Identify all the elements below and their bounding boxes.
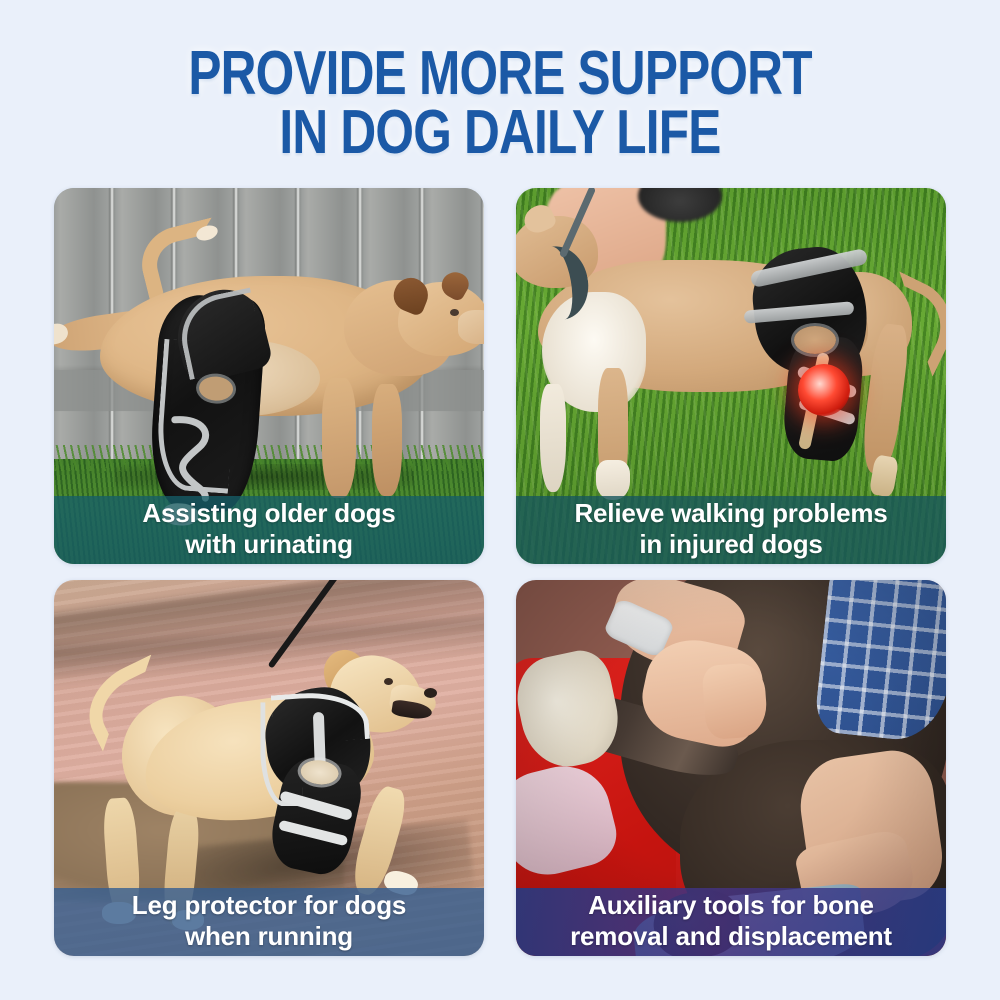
panel-assisting-older-dogs[interactable]: Assisting older dogs with urinating xyxy=(54,188,484,564)
caption-line-2: removal and displacement xyxy=(570,921,892,951)
panel-relieve-walking-problems[interactable]: Relieve walking problems in injured dogs xyxy=(516,188,946,564)
page-title-line-1: PROVIDE MORE SUPPORT xyxy=(100,44,900,103)
panel-caption: Relieve walking problems in injured dogs xyxy=(516,496,946,564)
dog-shoulder-brace-product xyxy=(245,682,387,874)
panel-caption: Assisting older dogs with urinating xyxy=(54,496,484,564)
feature-panel-grid: Assisting older dogs with urinating xyxy=(54,188,946,956)
brace-kneecap-window xyxy=(794,326,836,354)
caption-line-1: Leg protector for dogs xyxy=(132,890,406,920)
caption-line-1: Auxiliary tools for bone xyxy=(588,890,874,920)
dog-leg-brace-product xyxy=(147,293,268,515)
panel-leg-protector-running[interactable]: Leg protector for dogs when running xyxy=(54,580,484,956)
brace-trim-squiggle xyxy=(161,413,221,503)
caption-line-2: in injured dogs xyxy=(639,529,822,559)
caption-line-2: with urinating xyxy=(185,529,353,559)
caption-line-1: Relieve walking problems xyxy=(574,498,887,528)
caption-line-1: Assisting older dogs xyxy=(142,498,395,528)
panel-auxiliary-tools-bone[interactable]: Auxiliary tools for bone removal and dis… xyxy=(516,580,946,956)
page-title-line-2: IN DOG DAILY LIFE xyxy=(100,103,900,162)
panel-caption: Auxiliary tools for bone removal and dis… xyxy=(516,888,946,956)
panel-caption: Leg protector for dogs when running xyxy=(54,888,484,956)
caption-line-2: when running xyxy=(185,921,353,951)
dog-leg-brace-product xyxy=(742,248,870,458)
page-title: PROVIDE MORE SUPPORT IN DOG DAILY LIFE xyxy=(0,44,1000,162)
dog-front-leg xyxy=(322,378,356,498)
joint-pain-glow-indicator xyxy=(798,364,850,416)
